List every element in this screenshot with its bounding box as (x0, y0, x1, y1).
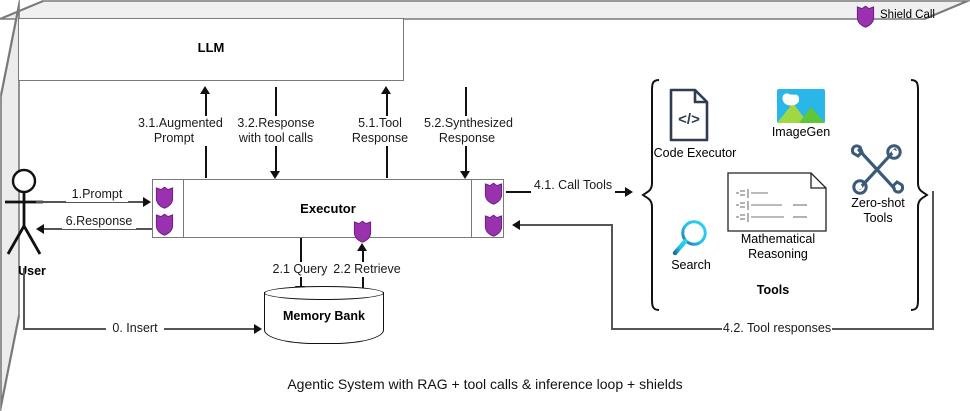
tool-label-zero-shot-tools: Zero-shot Tools (837, 196, 919, 226)
edge-label-tool-response: 5.1.Tool Response (347, 116, 413, 146)
llm-label: LLM (18, 40, 404, 55)
shield-icon (155, 212, 174, 236)
edge-augmented-prompt-arrowhead (200, 86, 210, 94)
memory-bank-node: Memory Bank (264, 286, 384, 350)
legend-label-shield-call: Shield Call (880, 9, 935, 21)
memory-bank-label: Memory Bank (264, 309, 384, 323)
edge-response-tool-calls-arrowhead (270, 171, 280, 179)
tool-label-code-executor: Code Executor (650, 146, 740, 161)
edge-label-query: 2.1 Query (268, 262, 332, 277)
edge-call-tools-arrowhead (625, 187, 633, 197)
llm-node: LLM (0, 0, 406, 82)
diagram-caption: Agentic System with RAG + tool calls & i… (0, 376, 970, 392)
memory-bank-cylinder-top (264, 286, 384, 300)
edge-tool-response-arrowhead (381, 86, 391, 94)
shield-icon (856, 4, 875, 28)
tools-group-right-brace (908, 78, 930, 312)
tool-label-mathematical-reasoning: Mathematical Reasoning (722, 232, 834, 262)
legend: Shield Call (856, 4, 968, 28)
edge-synthesized-response-arrowhead (460, 171, 470, 179)
user-actor: User (4, 168, 60, 268)
edge-label-call-tools: 4.1. Call Tools (531, 178, 615, 193)
edge-response-arrowhead (36, 224, 44, 234)
edge-label-retrieve: 2.2 Retrieve (333, 262, 401, 277)
edge-insert-vertical (23, 268, 25, 329)
math-document-icon (727, 172, 827, 232)
executor-node: Executor (152, 179, 504, 238)
edge-tool-responses-into-executor (519, 224, 613, 226)
edge-tool-responses-right-vertical (932, 191, 934, 329)
edge-label-prompt: 1.Prompt (66, 187, 128, 202)
shield-icon (353, 219, 372, 243)
code-document-icon: </> (668, 88, 710, 142)
shield-icon (155, 185, 174, 209)
shield-icon (484, 213, 503, 237)
svg-text:</>: </> (678, 111, 700, 128)
edge-tool-responses-left-vertical (611, 224, 613, 329)
tool-label-search: Search (656, 258, 726, 273)
edge-prompt-arrowhead (143, 197, 151, 207)
stick-figure-icon (4, 168, 60, 264)
executor-label: Executor (153, 201, 503, 216)
crossed-wrenches-icon (850, 143, 904, 201)
image-gen-icon (777, 89, 825, 123)
user-label: User (4, 264, 60, 278)
edge-label-response-with-tool-calls: 3.2.Response with tool calls (236, 116, 316, 146)
edge-insert-arrowhead (254, 324, 262, 334)
edge-retrieve-arrowhead (357, 243, 367, 251)
magnifier-icon (670, 218, 712, 260)
shield-icon (484, 181, 503, 205)
edge-label-augmented-prompt: 3.1.Augmented Prompt (138, 116, 210, 146)
llm-box-top-face (0, 0, 970, 20)
edge-label-insert: 0. Insert (106, 321, 164, 336)
tool-label-imagegen: ImageGen (761, 125, 841, 140)
edge-label-synthesized-response: 5.2.Synthesized Response (424, 116, 510, 146)
edge-tool-responses-arrowhead (512, 220, 520, 230)
edge-label-tool-responses: 4.2. Tool responses (722, 321, 832, 336)
tools-group-label: Tools (718, 283, 828, 297)
tools-group-left-brace (640, 78, 662, 312)
edge-label-response: 6.Response (62, 214, 136, 229)
